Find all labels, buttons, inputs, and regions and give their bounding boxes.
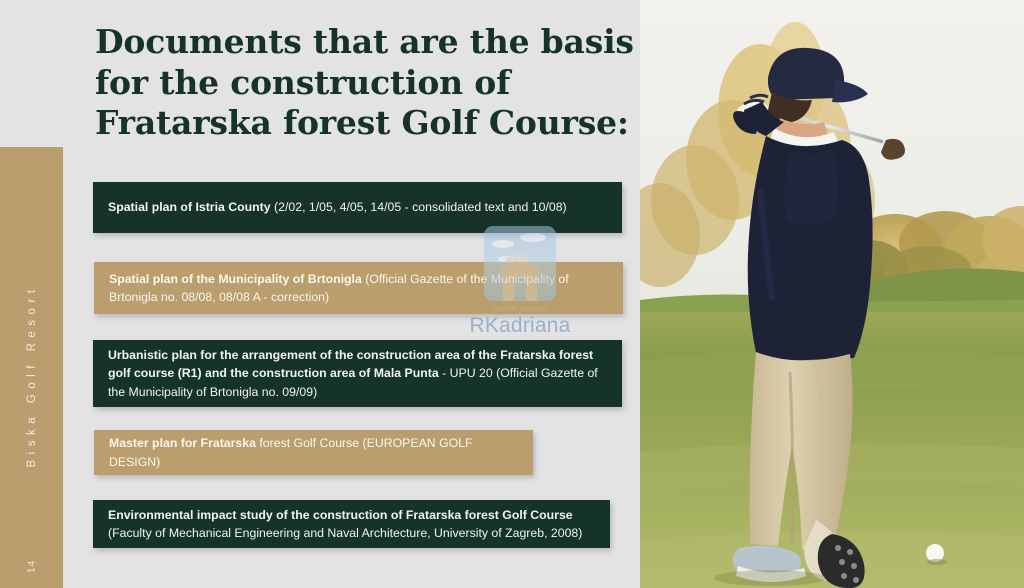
document-item: Environmental impact study of the constr… (93, 500, 610, 548)
document-text-1: Spatial plan of Istria County (2/02, 1/0… (108, 198, 608, 216)
document-bold-1: Spatial plan of Istria County (108, 200, 271, 214)
document-text-2: Spatial plan of the Municipality of Brto… (109, 270, 609, 306)
document-bold-5: Environmental impact study of the constr… (108, 508, 573, 522)
sidebar-brand-label: Biska Golf Resort (26, 285, 38, 468)
sidebar-brand-bar: Biska Golf Resort 14 (0, 147, 63, 588)
document-text-5: Environmental impact study of the constr… (108, 506, 596, 542)
document-rest-1: (2/02, 1/05, 4/05, 14/05 - consolidated … (271, 200, 567, 214)
page-title: Documents that are the basis for the con… (95, 22, 640, 144)
document-bold-2: Spatial plan of the Municipality of Brto… (109, 272, 362, 286)
page-number: 14 (26, 560, 37, 573)
golf-photo-illustration (640, 0, 1024, 588)
document-item: Master plan for Fratarska forest Golf Co… (94, 430, 533, 475)
golf-photo (640, 0, 1024, 588)
document-rest-5: (Faculty of Mechanical Engineering and N… (108, 526, 582, 540)
document-text-3: Urbanistic plan for the arrangement of t… (108, 346, 608, 401)
slide-canvas: Biska Golf Resort 14 Documents that are … (0, 0, 1024, 588)
document-item: Urbanistic plan for the arrangement of t… (93, 340, 622, 407)
document-item: Spatial plan of the Municipality of Brto… (94, 262, 623, 314)
document-text-4: Master plan for Fratarska forest Golf Co… (109, 434, 519, 470)
watermark-name: RKadriana (469, 314, 570, 338)
document-bold-4: Master plan for Fratarska (109, 436, 256, 450)
document-item: Spatial plan of Istria County (2/02, 1/0… (93, 182, 622, 233)
